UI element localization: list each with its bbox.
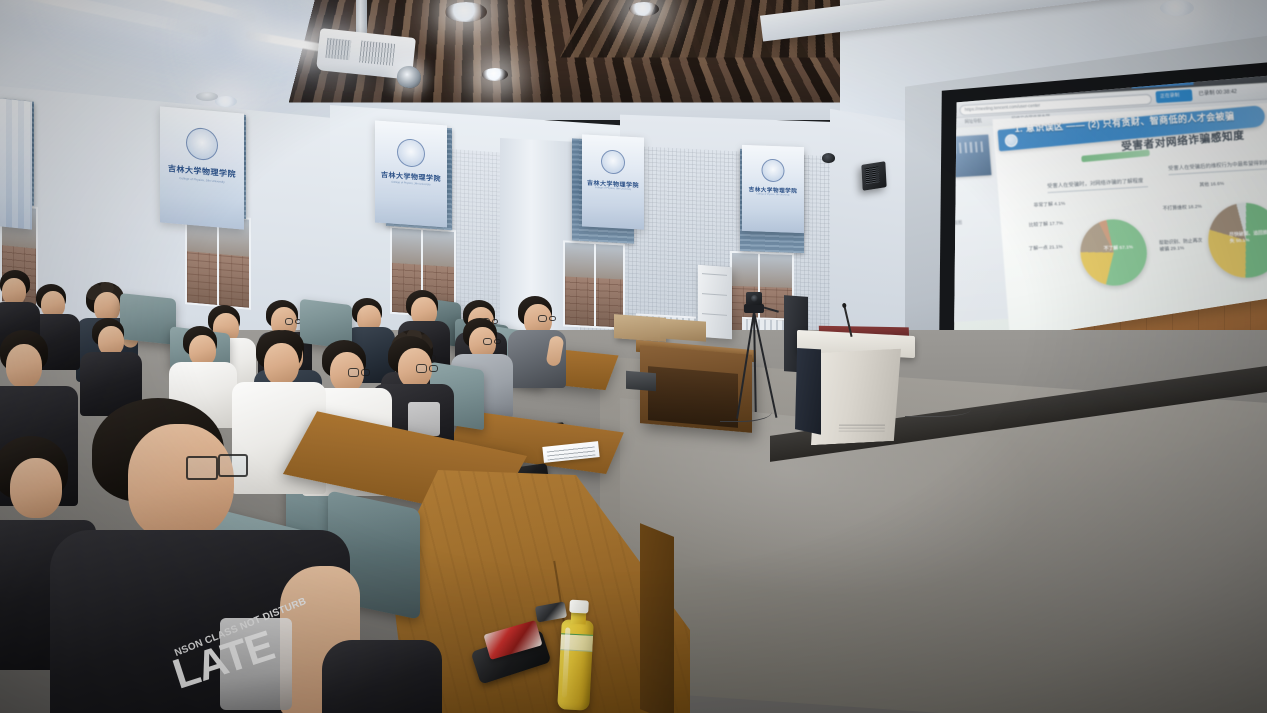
glasses-icon (285, 318, 293, 325)
pie-chart-1-label: 比较了解 17.7% (1029, 220, 1064, 228)
camera-icon (746, 292, 762, 305)
glasses-icon (538, 315, 547, 322)
lectern-body (811, 349, 901, 446)
pie-chart-1-label: 非常了解 4.1% (1033, 201, 1065, 209)
pie-chart-2-title: 受害人在受骗后的维权行为中最希望得到的帮助 (1168, 158, 1267, 175)
window-mullion (217, 217, 219, 305)
glasses-icon (416, 364, 427, 373)
face (6, 344, 42, 388)
lectern-cable (905, 402, 971, 417)
ceiling-downlight-icon (215, 96, 237, 107)
lectern-control-panel[interactable] (795, 347, 821, 436)
floor-equipment-box (626, 371, 656, 392)
pie-chart-1-title: 受害人在受骗时，对网络诈骗的了解程度 (1047, 177, 1148, 194)
department-banner (0, 98, 32, 229)
department-banner: 吉林大学物理学院 College of Physics, Jilin Unive… (160, 106, 244, 229)
bottle-cap (569, 600, 589, 614)
pie-chart-2-label: 尽快破案、追回损失 50.1% (1229, 229, 1267, 244)
tripod-head (744, 304, 764, 313)
recording-badge: 正在录制 (1155, 89, 1192, 103)
drink-bottle (557, 599, 595, 711)
face (264, 343, 299, 385)
glasses-icon (186, 456, 218, 480)
glasses-icon (218, 454, 248, 477)
face (2, 278, 26, 305)
smoke-detector-icon (196, 92, 218, 101)
pie-chart-2-label: 其他 16.6% (1199, 181, 1224, 189)
torso (322, 640, 442, 713)
window-mullion (594, 244, 596, 326)
banner-texture (0, 98, 32, 229)
auditorium-seat (120, 293, 176, 345)
pie-chart-1-label: 了解一点 21.1% (1028, 244, 1063, 252)
lectern (795, 330, 915, 454)
lecture-hall-photo: 吉林大学物理学院 College of Physics, Jilin Unive… (0, 0, 1267, 713)
desk-edge (640, 523, 674, 713)
ceiling-downlight-icon (1160, 0, 1194, 16)
glasses-icon (348, 368, 359, 377)
pie-chart-2-label: 不打算维权 18.2% (1162, 203, 1202, 212)
department-banner: 吉林大学物理学院 College of Physics, Jilin Unive… (582, 134, 644, 229)
ceiling-camera-icon (822, 153, 835, 163)
ceiling-downlight-icon (445, 2, 487, 22)
face (128, 424, 234, 540)
department-banner: 吉林大学物理学院 College of Physics, Jilin Unive… (742, 145, 804, 233)
ceiling-downlight-icon (629, 2, 659, 16)
department-banner: 吉林大学物理学院 College of Physics, Jilin Unive… (375, 120, 447, 227)
ceiling-downlight-icon (482, 68, 508, 81)
face (10, 458, 62, 518)
university-crest-icon (762, 159, 785, 183)
university-crest-icon (186, 127, 218, 162)
pie-chart-2-label: 帮助识别、防止再次被骗 29.1% (1159, 237, 1207, 253)
lectern-vent (839, 425, 885, 426)
cardboard-box (614, 314, 666, 342)
wall-speaker-icon (861, 161, 886, 191)
pie-chart-1-graphic (1078, 217, 1150, 287)
pie-chart-2: 受害人在受骗后的维权行为中最希望得到的帮助 其他 16.6% 不打算维权 18.… (1153, 158, 1267, 315)
slide-bullet-icon (1004, 134, 1018, 148)
pie-chart-1: 受害人在受骗时，对网络诈骗的了解程度 非常了解 4.1% 比较了解 17.7% … (1023, 177, 1158, 323)
cardboard-box (660, 318, 706, 341)
address-bar-url: https://meeting.tencent.com/user-center (965, 103, 1041, 113)
university-crest-icon (397, 138, 425, 168)
glasses-icon (483, 338, 492, 345)
recording-badge-label: 正在录制 (1160, 92, 1180, 100)
camera-tripod (726, 290, 782, 420)
bookmark-item[interactable]: 网址导航 (964, 118, 982, 125)
university-crest-icon (601, 149, 625, 174)
